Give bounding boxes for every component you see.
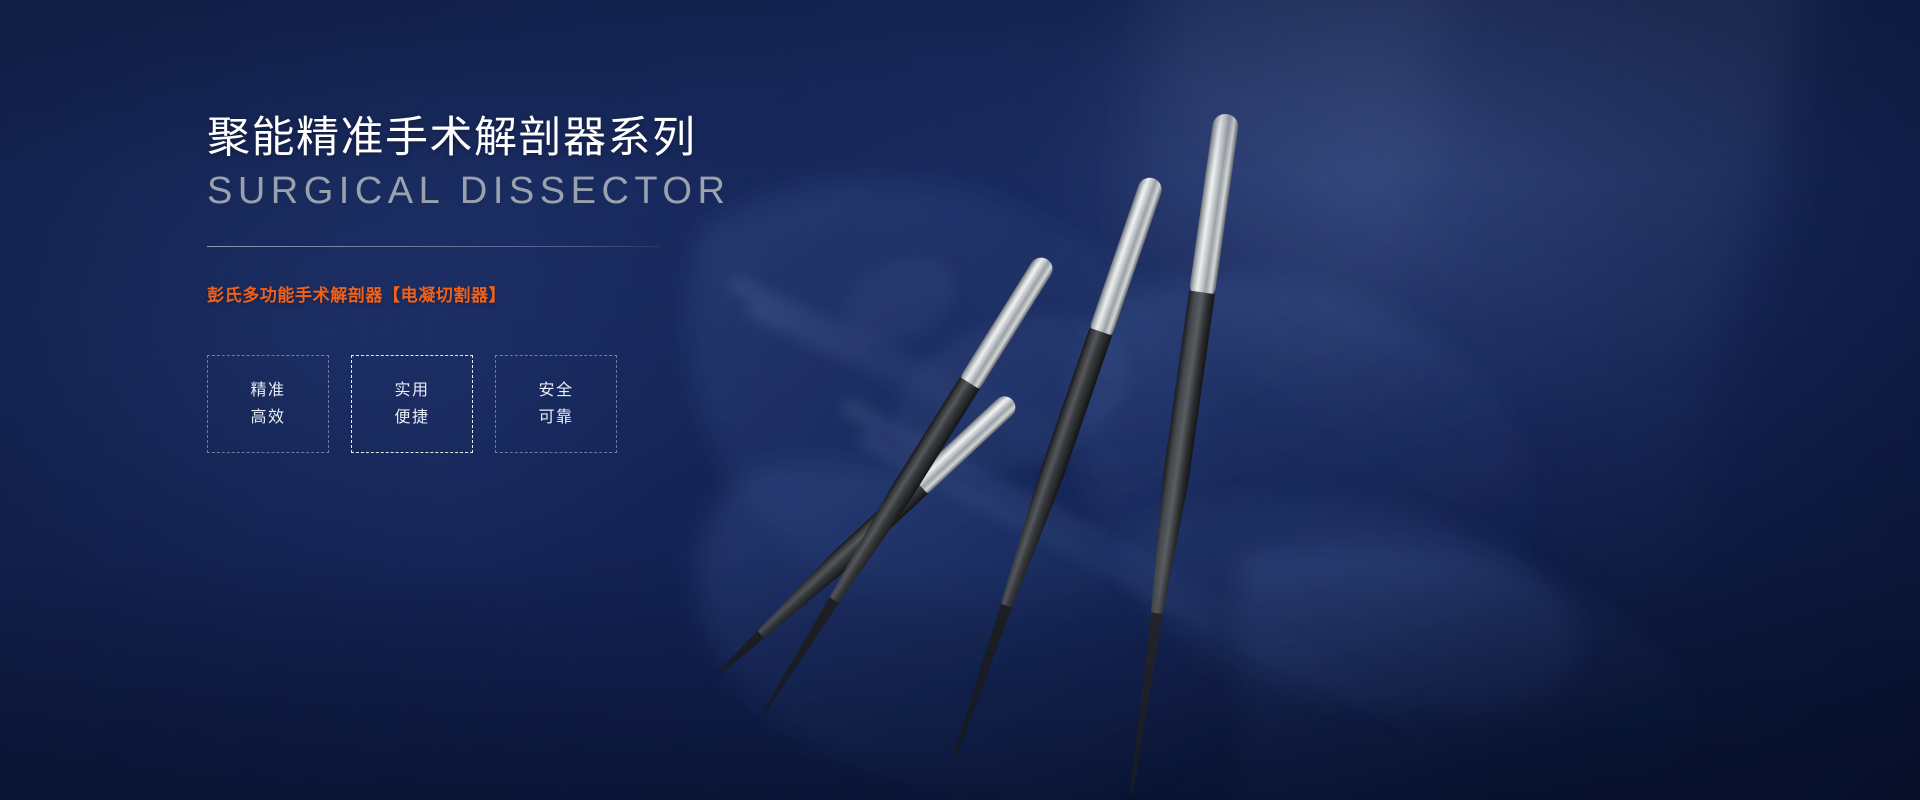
- product-banner: 聚能精准手术解剖器系列 SURGICAL DISSECTOR 彭氏多功能手术解剖…: [0, 0, 1920, 800]
- feature-3-line-1: 安全: [538, 377, 573, 405]
- feature-box-group: 精准 高效 实用 便捷 安全 可靠: [207, 355, 867, 453]
- feature-box-2: 实用 便捷: [351, 355, 473, 453]
- title-divider: [207, 246, 660, 247]
- page-title: 聚能精准手术解剖器系列: [207, 112, 867, 164]
- banner-content: 聚能精准手术解剖器系列 SURGICAL DISSECTOR 彭氏多功能手术解剖…: [207, 112, 867, 453]
- feature-1-line-1: 精准: [250, 377, 285, 405]
- feature-3-line-2: 可靠: [538, 404, 573, 432]
- feature-2-line-2: 便捷: [394, 404, 429, 432]
- light-beam-secondary: [1035, 0, 1466, 680]
- product-name-label: 彭氏多功能手术解剖器【电凝切割器】: [207, 281, 867, 306]
- feature-box-1: 精准 高效: [207, 355, 329, 453]
- instrument-3: [943, 175, 1165, 761]
- light-beam-primary: [1020, 0, 1839, 762]
- instrument-4: [1119, 112, 1240, 795]
- feature-box-3: 安全 可靠: [495, 355, 617, 453]
- feature-1-line-2: 高效: [250, 404, 285, 432]
- page-subtitle-en: SURGICAL DISSECTOR: [207, 171, 867, 213]
- feature-2-line-1: 实用: [394, 377, 429, 405]
